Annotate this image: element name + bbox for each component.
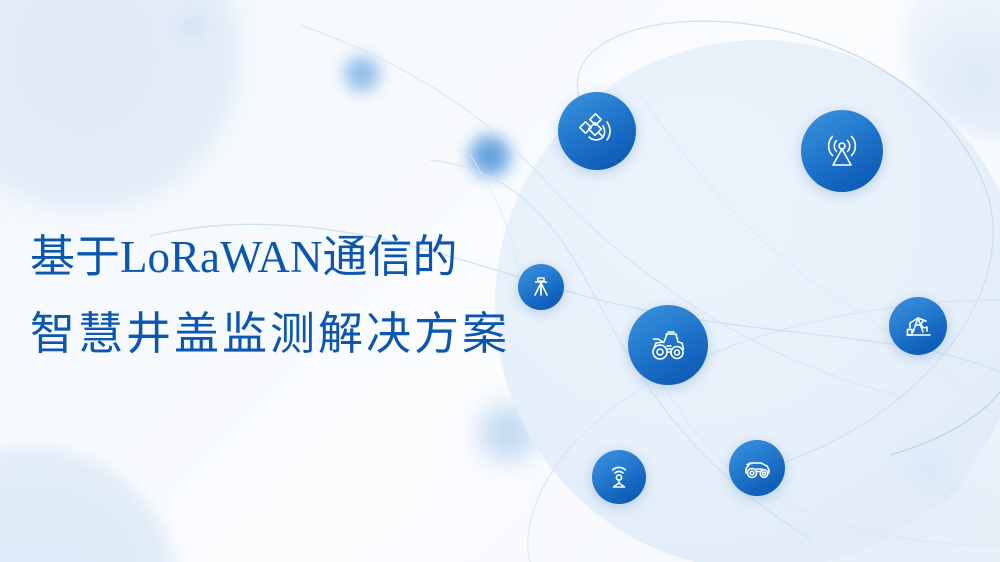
orbit-arc-1 [577, 21, 993, 470]
orbit-arc-9 [890, 392, 1000, 455]
robot-vehicle-icon [741, 452, 773, 484]
accent-dot-e [174, 8, 212, 46]
node-radio-tower[interactable] [801, 110, 883, 192]
orbit-arc-7 [660, 380, 1000, 546]
background-blob-top-left [0, 0, 250, 220]
accent-dot-d [900, 440, 956, 496]
satellite-icon [576, 110, 618, 152]
accent-dot-c [470, 395, 546, 471]
tractor-icon [646, 323, 690, 367]
cover-slide: 基于LoRaWAN通信的 智慧井盖监测解决方案 [0, 0, 1000, 562]
accent-dot-b [340, 52, 384, 96]
signal-beacon-icon [604, 462, 634, 492]
accent-dot-a [464, 130, 516, 182]
background-blob-bottom-right [790, 430, 1000, 562]
slide-title: 基于LoRaWAN通信的 智慧井盖监测解决方案 [30, 226, 560, 365]
node-tractor[interactable] [628, 305, 708, 385]
background-blob-top-right [905, 0, 1000, 140]
node-satellite[interactable] [558, 92, 636, 170]
node-signal-beacon[interactable] [592, 450, 646, 504]
background-blob-bottom-left [0, 443, 182, 562]
radio-tower-icon [820, 129, 864, 173]
oil-pumpjack-icon [902, 310, 934, 342]
node-robot-vehicle[interactable] [729, 440, 785, 496]
node-oil-pumpjack[interactable] [889, 297, 947, 355]
title-line-1: 基于LoRaWAN通信的 [30, 226, 560, 288]
title-line-2: 智慧井盖监测解决方案 [30, 303, 560, 365]
